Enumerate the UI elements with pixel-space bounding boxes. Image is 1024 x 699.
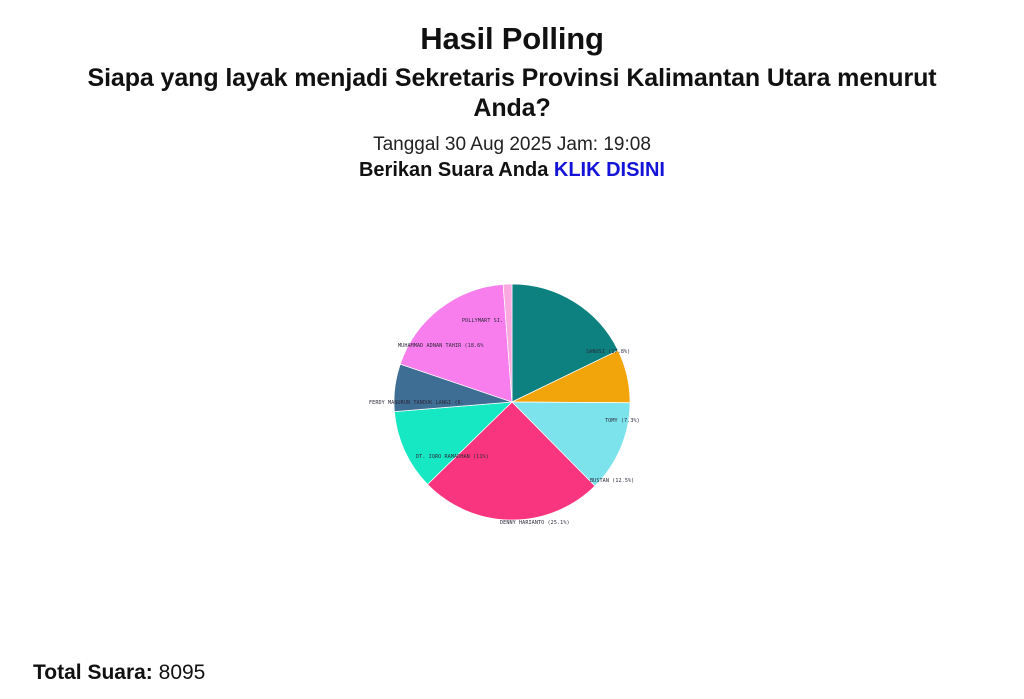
pie-slice-label: FERDY MANURUN TANDUK LANGI (6. xyxy=(369,400,464,406)
total-votes: Total Suara: 8095 xyxy=(33,661,205,685)
vote-link[interactable]: KLIK DISINI xyxy=(554,159,665,181)
pie-slice-label: DT. IQRO RAMADHAN (11%) xyxy=(416,454,489,460)
pie-slice-label: SANUSI (17.8%) xyxy=(586,349,630,355)
page-title: Hasil Polling xyxy=(0,22,1024,57)
poll-timestamp: Tanggal 30 Aug 2025 Jam: 19:08 xyxy=(0,134,1024,156)
poll-header: Hasil Polling Siapa yang layak menjadi S… xyxy=(0,0,1024,182)
total-votes-label: Total Suara: xyxy=(33,661,153,684)
pie-chart-svg: SANUSI (17.8%)TOMY (7.3%)BUSTAN (12.5%)D… xyxy=(362,252,662,552)
pie-slice-label: TOMY (7.3%) xyxy=(605,418,640,424)
pie-slice-label: MUHAMMAD ADNAN TAHIR (18.6% xyxy=(398,343,484,349)
poll-chart-area: SANUSI (17.8%)TOMY (7.3%)BUSTAN (12.5%)D… xyxy=(0,252,1024,582)
poll-result-page: Hasil Polling Siapa yang layak menjadi S… xyxy=(0,0,1024,699)
pie-chart: SANUSI (17.8%)TOMY (7.3%)BUSTAN (12.5%)D… xyxy=(362,252,662,552)
pie-slice-label: POLLYMART SI. xyxy=(462,318,503,324)
pie-slice-label: BUSTAN (12.5%) xyxy=(590,478,634,484)
pie-slice-label: DENNY HARIANTO (25.1%) xyxy=(500,520,570,526)
total-votes-value: 8095 xyxy=(159,661,206,684)
vote-cta-text: Berikan Suara Anda xyxy=(359,159,548,181)
vote-cta: Berikan Suara Anda KLIK DISINI xyxy=(0,159,1024,182)
poll-question: Siapa yang layak menjadi Sekretaris Prov… xyxy=(47,63,977,124)
